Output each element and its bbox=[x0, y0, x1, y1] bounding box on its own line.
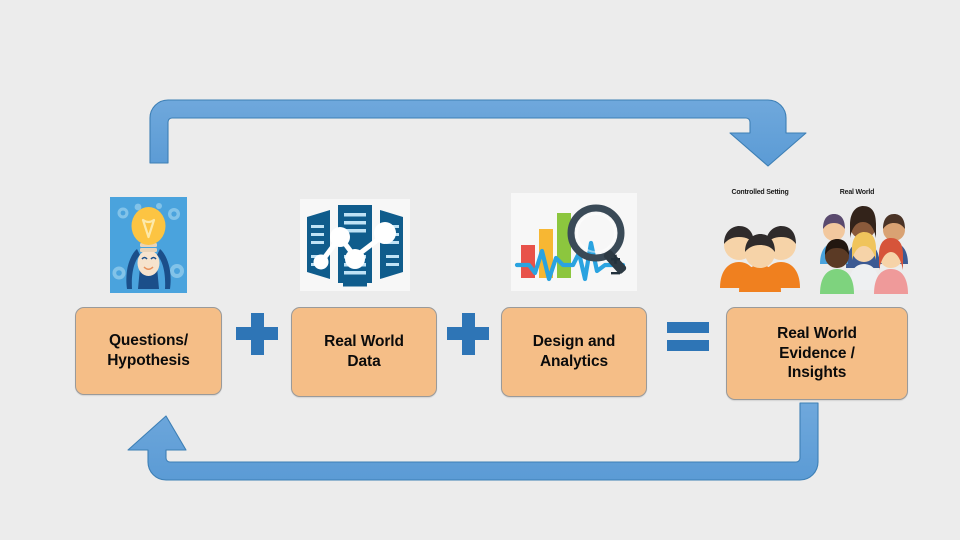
chart-magnifier-analytics-icon bbox=[511, 193, 637, 291]
lightbulb-idea-icon bbox=[110, 197, 187, 293]
box-real-world-data[interactable]: Real World Data bbox=[291, 307, 437, 397]
plus-operator-1 bbox=[236, 313, 278, 355]
equals-operator bbox=[667, 322, 709, 352]
group-label-controlled-setting: Controlled Setting bbox=[720, 189, 800, 196]
box-real-world-evidence-insights[interactable]: Real World Evidence / Insights bbox=[726, 307, 908, 400]
data-servers-network-icon bbox=[300, 199, 410, 291]
group-label-real-world: Real World bbox=[826, 189, 888, 196]
diagram-canvas: Controlled Setting Real Wo bbox=[0, 0, 960, 540]
box-questions-hypothesis[interactable]: Questions/ Hypothesis bbox=[75, 307, 222, 395]
box-design-and-analytics[interactable]: Design and Analytics bbox=[501, 307, 647, 397]
plus-operator-2 bbox=[447, 313, 489, 355]
feedback-arrow-bottom bbox=[128, 403, 818, 480]
people-controlled-setting-icon bbox=[718, 200, 802, 292]
feedback-arrow-top bbox=[150, 100, 806, 166]
people-real-world-icon bbox=[818, 198, 910, 294]
